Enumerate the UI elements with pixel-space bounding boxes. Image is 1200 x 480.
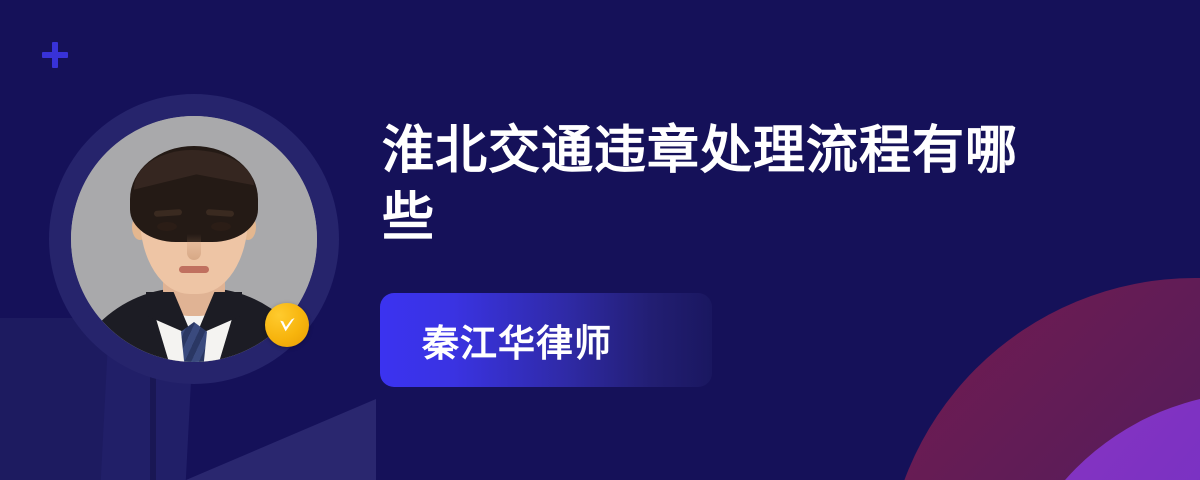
promo-card: 淮北交通违章处理流程有哪些 秦江华律师	[0, 0, 1200, 480]
text-block: 淮北交通违章处理流程有哪些	[382, 118, 1082, 251]
avatar[interactable]	[49, 94, 339, 384]
lawyer-name-button[interactable]: 秦江华律师	[380, 293, 712, 387]
decorative-wedge-triangle	[186, 399, 376, 480]
lawyer-name-label: 秦江华律师	[422, 313, 612, 367]
page-title: 淮北交通违章处理流程有哪些	[382, 118, 1062, 251]
plus-icon	[42, 42, 68, 68]
verified-badge-icon	[265, 303, 309, 347]
